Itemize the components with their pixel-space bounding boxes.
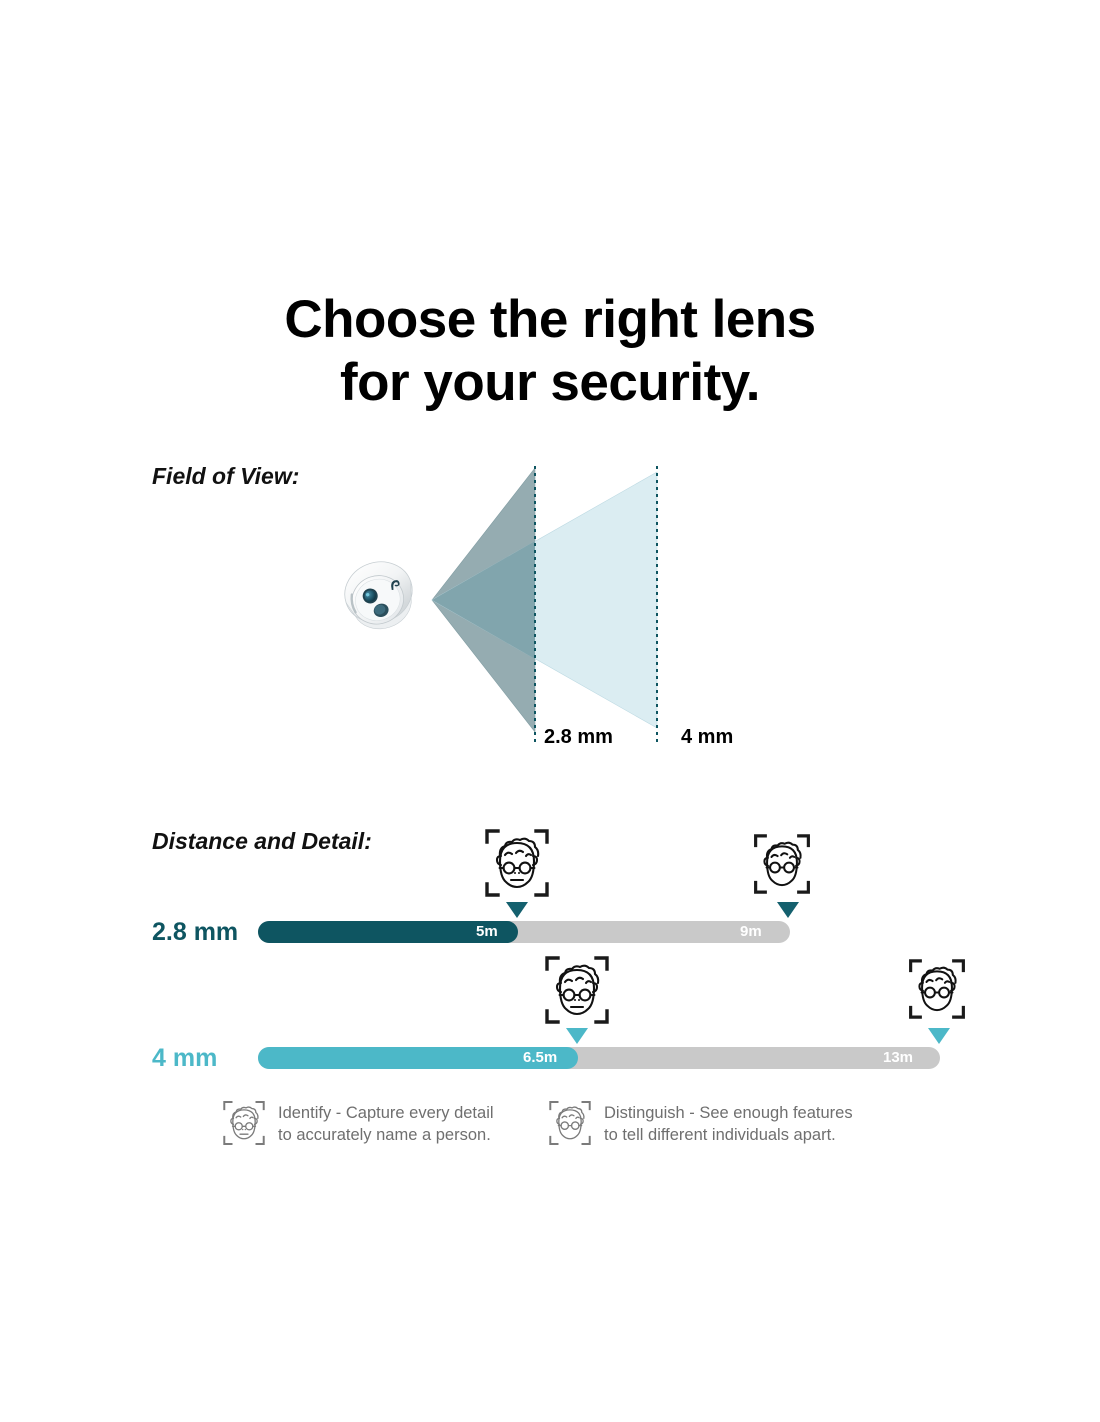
distance-and-detail-heading: Distance and Detail: (152, 828, 372, 855)
legend-item-identify: Identify - Capture every detail to accur… (222, 1100, 494, 1146)
marker-pointer-5m (506, 902, 528, 918)
face-distinguish-icon (548, 1100, 592, 1146)
fov-label-4mm: 4 mm (681, 726, 733, 749)
face-distinguish-icon-4mm (908, 958, 966, 1020)
field-of-view-cone-svg (0, 450, 1100, 770)
camera-illustration (330, 552, 430, 642)
page-title-line-2: for your security. (0, 351, 1100, 414)
marker-pointer-6-5m (566, 1028, 588, 1044)
face-distinguish-icon-28mm (753, 833, 811, 895)
face-identify-icon-28mm (484, 828, 550, 898)
distance-value-identify-2-8mm: 5m (476, 921, 498, 943)
infographic-page: Choose the right lens for your security.… (0, 0, 1100, 1422)
distance-value-identify-4mm: 6.5m (523, 1047, 557, 1069)
distance-track-2-8mm: 5m 9m (258, 921, 790, 943)
face-identify-icon-4mm (544, 955, 610, 1025)
fov-label-2-8mm: 2.8 mm (544, 726, 613, 749)
row-label-4mm: 4 mm (152, 1044, 217, 1073)
distance-track-4mm: 6.5m 13m (258, 1047, 940, 1069)
marker-pointer-9m (777, 902, 799, 918)
turret-dome-camera-icon (330, 552, 430, 642)
field-of-view-diagram (0, 450, 1100, 770)
distance-value-distinguish-4mm: 13m (883, 1047, 913, 1069)
distance-value-distinguish-2-8mm: 9m (740, 921, 762, 943)
row-label-2-8mm: 2.8 mm (152, 918, 238, 947)
legend-item-distinguish: Distinguish - See enough features to tel… (548, 1100, 853, 1146)
marker-pointer-13m (928, 1028, 950, 1044)
page-title: Choose the right lens for your security. (0, 288, 1100, 414)
legend-text-distinguish: Distinguish - See enough features to tel… (604, 1100, 853, 1146)
page-title-line-1: Choose the right lens (0, 288, 1100, 351)
legend-text-identify: Identify - Capture every detail to accur… (278, 1100, 494, 1146)
face-identify-icon (222, 1100, 266, 1146)
